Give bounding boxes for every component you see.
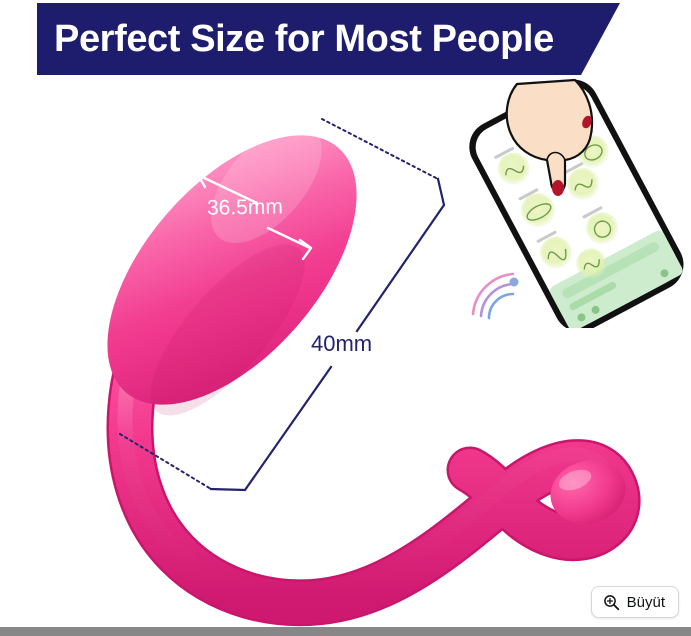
enlarge-button[interactable]: Büyüt — [591, 586, 679, 618]
product-image-viewer: 36.5mm 40mm Perfect Size for Most People — [0, 0, 691, 636]
page-title: Perfect Size for Most People — [54, 12, 554, 66]
wireless-signal-icon — [473, 274, 519, 318]
dimension-label-width: 36.5mm — [207, 195, 283, 220]
enlarge-button-label: Büyüt — [627, 595, 665, 610]
phone-app-mockup — [455, 78, 691, 328]
magnifier-plus-icon — [603, 594, 620, 611]
dimension-label-length: 40mm — [311, 331, 372, 357]
bottom-scrollbar[interactable] — [0, 627, 691, 636]
